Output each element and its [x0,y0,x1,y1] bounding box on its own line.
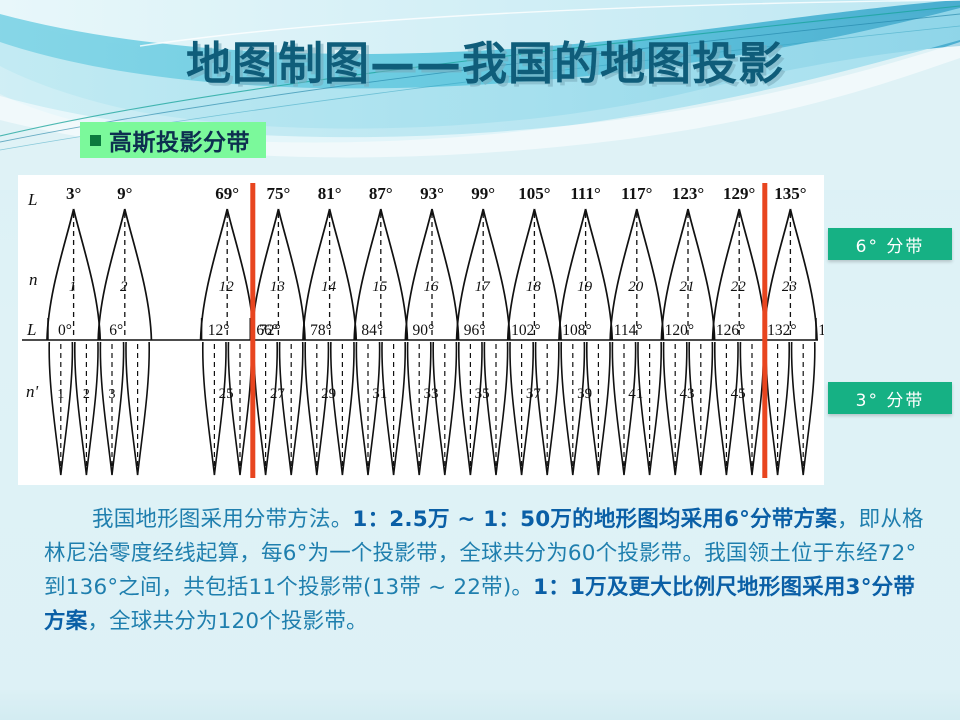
gauss-zone-diagram-svg: L n L n' 3°9°69°75°81°87°93°99°105°111°1… [18,175,824,485]
top-meridian-label: 129° [723,184,755,203]
axis-degree-label: 78° [310,322,332,339]
slide-canvas: 地图制图——我国的地图投影 高斯投影分带 L n L n' 3°9°69°75°… [0,0,960,720]
six-degree-zone-number: 20 [628,279,644,295]
six-degree-zone-number: 17 [475,279,492,295]
six-degree-zone-number: 16 [424,279,440,295]
title-container: 地图制图——我国的地图投影 [0,40,960,87]
three-degree-zone-number: 1 [57,387,64,402]
axis-degree-label: 120° [665,322,694,339]
body-segment-0: 我国地形图采用分带方法。 [92,507,352,532]
three-degree-zone-number: 37 [526,386,542,402]
body-segment-1: 1：2.5万 ~ 1：50万的地形图均采用6°分带方案 [352,507,837,532]
six-degree-zone-number: 12 [219,279,235,295]
axis-degree-label: 108° [562,322,591,339]
top-meridian-label: 105° [518,184,550,203]
badge-three-degree-label: 3° 分带 [856,386,925,411]
axis-degree-label: 132° [767,322,796,339]
axis-degree-label: 138° [818,322,824,339]
bottom-strip [0,690,960,720]
badge-six-degree-label: 6° 分带 [856,232,925,257]
page-title: 地图制图——我国的地图投影 [10,40,960,87]
axis-degree-label: 72° [259,322,281,339]
axis-degree-label: 12° [208,322,230,339]
three-degree-zone-number: 2 [83,387,90,402]
top-meridian-label: 87° [369,184,393,203]
six-degree-zone-number: 13 [270,279,285,295]
three-degree-zone-number: 25 [219,386,234,402]
row-label-mid-L: L [26,320,36,339]
three-degree-zone-number: 39 [577,386,592,402]
badge-three-degree-zone: 3° 分带 [828,382,952,414]
section-heading: 高斯投影分带 [80,122,266,158]
axis-degree-label: 96° [464,322,486,339]
gauss-zone-diagram: L n L n' 3°9°69°75°81°87°93°99°105°111°1… [18,175,824,485]
header-wave-decoration [0,0,960,190]
axis-degree-label: 126° [716,322,745,339]
six-degree-zone-number: 2 [120,279,128,295]
three-degree-zone-number: 3 [109,387,116,402]
row-label-n: n [29,270,38,289]
body-segment-4: ，全球共分为120个投影带。 [87,609,367,634]
six-degree-zone-number: 23 [782,279,797,295]
six-degree-zone-number: 1 [69,279,77,295]
axis-degree-label: 102° [511,322,540,339]
china-boundary-marker-left [250,183,255,478]
three-degree-zone-number: 43 [679,386,694,402]
three-degree-zone-number: 35 [475,386,490,402]
three-degree-zone-number: 41 [628,386,643,402]
axis-degree-label: 6° [109,322,123,339]
top-meridian-label: 69° [215,184,239,203]
three-degree-zone-number: 31 [372,386,387,402]
top-meridian-label: 111° [570,184,600,203]
six-degree-zone-number: 15 [372,279,388,295]
top-meridian-label: 117° [621,184,652,203]
row-label-top-L: L [27,190,37,209]
top-meridian-label: 9° [117,184,132,203]
body-paragraph: 我国地形图采用分带方法。1：2.5万 ~ 1：50万的地形图均采用6°分带方案，… [44,503,924,639]
six-degree-zone-number: 22 [731,279,747,295]
section-heading-label: 高斯投影分带 [109,123,250,157]
six-degree-zone-number: 18 [526,279,542,295]
six-degree-zone-number: 14 [321,279,337,295]
axis-degree-label: 0° [58,322,72,339]
top-meridian-label: 75° [266,184,290,203]
axis-degree-label: 114° [614,322,643,339]
badge-six-degree-zone: 6° 分带 [828,228,952,260]
top-meridian-label: 93° [420,184,444,203]
three-degree-zone-number: 45 [731,386,746,402]
axis-degree-label: 90° [413,322,435,339]
six-degree-zone-number: 21 [680,279,695,295]
six-degree-zone-number: 19 [577,279,593,295]
top-meridian-label: 135° [774,184,806,203]
three-degree-zone-number: 33 [423,386,438,402]
china-boundary-marker-right [762,183,767,478]
three-degree-zone-number: 27 [270,386,286,402]
bullet-square-icon [90,135,101,146]
top-meridian-label: 3° [66,184,81,203]
top-meridian-label: 99° [471,184,495,203]
three-degree-zone-number: 29 [321,386,336,402]
axis-degree-label: 84° [361,322,383,339]
top-meridian-label: 81° [318,184,342,203]
top-meridian-label: 123° [672,184,704,203]
row-label-n-prime: n' [26,382,39,401]
